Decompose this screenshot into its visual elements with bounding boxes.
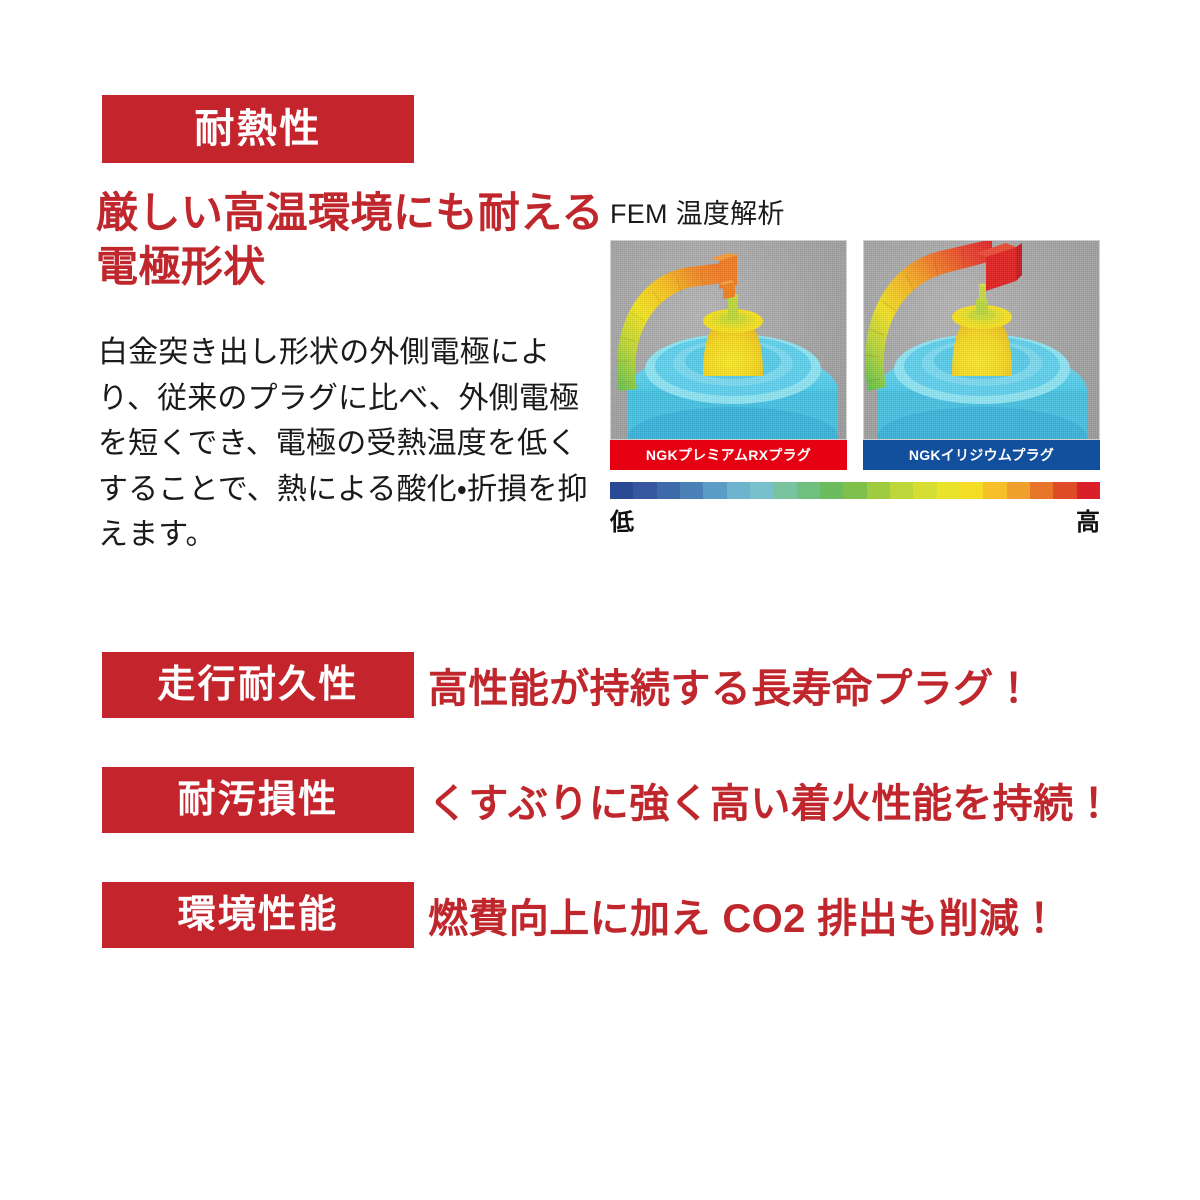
color-scale-segment-13 — [913, 482, 936, 499]
color-scale-segment-6 — [750, 482, 773, 499]
fem-panel-group: NGKプレミアムRXプラグ — [610, 240, 1100, 470]
color-scale-segment-11 — [867, 482, 890, 499]
color-scale-segment-4 — [703, 482, 726, 499]
feature-rows: 走行耐久性 高性能が持続する長寿命プラグ！ 耐汚損性 くすぶりに強く高い着火性能… — [0, 640, 1200, 985]
fem-image-premium-rx — [610, 240, 847, 440]
color-scale-segment-20 — [1077, 482, 1100, 499]
color-scale-segment-9 — [820, 482, 843, 499]
temperature-color-scale: 低 高 — [610, 482, 1100, 537]
fem-label-iridium: NGKイリジウムプラグ — [863, 440, 1100, 470]
scale-low-label: 低 — [610, 502, 634, 537]
fem-panel-premium-rx: NGKプレミアムRXプラグ — [610, 240, 847, 470]
feature-badge-driving-durability: 走行耐久性 — [102, 652, 414, 718]
feature-row-fouling-resistance: 耐汚損性 くすぶりに強く高い着火性能を持続！ — [0, 755, 1200, 870]
feature-badge-environmental-performance: 環境性能 — [102, 882, 414, 948]
feature-text-fouling-resistance: くすぶりに強く高い着火性能を持続！ — [428, 769, 1114, 831]
spark-plug-thermal-render-rx — [611, 241, 847, 440]
feature-row-driving-durability: 走行耐久性 高性能が持続する長寿命プラグ！ — [0, 640, 1200, 755]
color-scale-segment-19 — [1053, 482, 1076, 499]
fem-image-iridium — [863, 240, 1100, 440]
color-scale-segment-16 — [983, 482, 1006, 499]
fem-analysis-block: FEM 温度解析 — [610, 198, 1100, 537]
color-scale-segment-14 — [937, 482, 960, 499]
color-scale-segment-8 — [797, 482, 820, 499]
feature-text-environmental-performance: 燃費向上に加え CO2 排出も削減！ — [428, 884, 1060, 946]
fem-label-premium-rx: NGKプレミアムRXプラグ — [610, 440, 847, 470]
feature-text-driving-durability: 高性能が持続する長寿命プラグ！ — [428, 654, 1034, 716]
color-scale-segment-12 — [890, 482, 913, 499]
color-scale-segment-7 — [773, 482, 796, 499]
color-scale-segment-3 — [680, 482, 703, 499]
heat-resistance-section: 耐熱性 厳しい高温環境にも耐える電極形状 白金突き出し形状の外側電極により、従来… — [0, 0, 1200, 560]
color-scale-segment-2 — [657, 482, 680, 499]
color-scale-segment-10 — [843, 482, 866, 499]
fem-caption: FEM 温度解析 — [610, 198, 1100, 230]
scale-high-label: 高 — [1076, 502, 1100, 537]
color-scale-bar — [610, 482, 1100, 499]
feature-badge-fouling-resistance: 耐汚損性 — [102, 767, 414, 833]
heat-resistance-body-text: 白金突き出し形状の外側電極により、従来のプラグに比べ、外側電極を短くでき、電極の… — [98, 330, 588, 558]
color-scale-segment-0 — [610, 482, 633, 499]
heat-resistance-title: 厳しい高温環境にも耐える電極形状 — [96, 186, 616, 294]
fem-panel-iridium: NGKイリジウムプラグ — [863, 240, 1100, 470]
color-scale-segment-1 — [633, 482, 656, 499]
color-scale-segment-5 — [727, 482, 750, 499]
color-scale-segment-15 — [960, 482, 983, 499]
color-scale-segment-17 — [1007, 482, 1030, 499]
color-scale-end-labels: 低 高 — [610, 502, 1100, 537]
page-root: 耐熱性 厳しい高温環境にも耐える電極形状 白金突き出し形状の外側電極により、従来… — [0, 0, 1200, 1200]
spark-plug-thermal-render-iridium — [864, 241, 1100, 440]
heat-resistance-badge: 耐熱性 — [102, 95, 414, 163]
feature-row-environmental-performance: 環境性能 燃費向上に加え CO2 排出も削減！ — [0, 870, 1200, 985]
color-scale-segment-18 — [1030, 482, 1053, 499]
